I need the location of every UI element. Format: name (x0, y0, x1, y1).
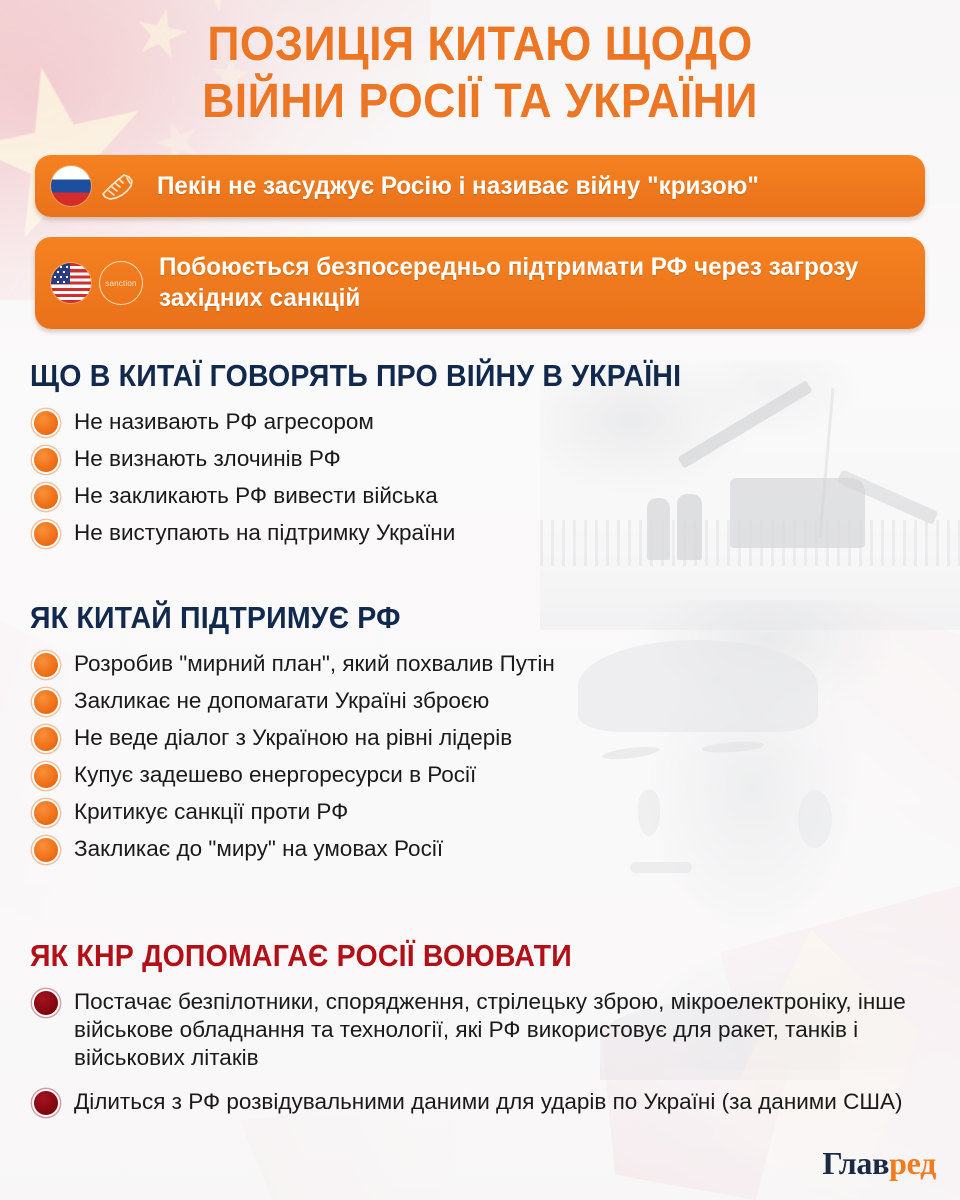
bullet-dot-icon (34, 727, 58, 751)
list-item-text: Не називають РФ агресором (74, 409, 374, 434)
sanction-badge-icon: sanction (99, 261, 143, 305)
list-item: Не веде діалог з Україною на рівні лідер… (30, 724, 555, 752)
infographic-poster: ПОЗИЦІЯ КИТАЮ ЩОДО ВІЙНИ РОСІЇ ТА УКРАЇН… (0, 0, 960, 1200)
list-item-text: Не закликають РФ вивести війська (74, 483, 438, 508)
logo-part-2: ред (889, 1145, 936, 1181)
handshake-icon (97, 166, 141, 206)
page-title: ПОЗИЦІЯ КИТАЮ ЩОДО ВІЙНИ РОСІЇ ТА УКРАЇН… (34, 16, 927, 130)
list-item-text: Ділиться з РФ розвідувальними даними для… (74, 1089, 902, 1114)
list-item-text: Купує задешево енергоресурси в Росії (74, 762, 476, 787)
list-item: Розробив "мирний план", який похвалив Пу… (30, 650, 555, 678)
russia-flag-icon (51, 166, 91, 206)
page-title-line-2: ВІЙНИ РОСІЇ ТА УКРАЇНИ (34, 73, 927, 130)
logo-part-1: Глав (822, 1145, 889, 1181)
list-item-text: Не визнають злочинів РФ (74, 446, 341, 471)
section-how-prc-helps-russia-fight: ЯК КНР ДОПОМАГАЄ РОСІЇ ВОЮВАТИ Постачає … (30, 938, 960, 1132)
list-item: Закликає до "миру" на умовах Росії (30, 835, 555, 863)
section-1-list: Не називають РФ агресором Не визнають зл… (30, 408, 738, 547)
bullet-dot-icon (34, 653, 58, 677)
list-item: Критикує санкції проти РФ (30, 798, 555, 826)
section-how-china-supports-rf: ЯК КИТАЙ ПІДТРИМУЄ РФ Розробив "мирний п… (30, 600, 555, 872)
banner-2-text: Побоюється безпосередньо підтримати РФ ч… (159, 252, 887, 314)
list-item-text: Критикує санкції проти РФ (74, 799, 348, 824)
banner-1-text: Пекін не засуджує Росію і називає війну … (157, 171, 759, 202)
usa-flag-icon (51, 263, 91, 303)
list-item: Закликає не допомагати Україні зброєю (30, 687, 555, 715)
bullet-dot-icon (34, 448, 58, 472)
list-item-text: Не виступають на підтримку України (74, 520, 455, 545)
usa-flag-stars (52, 264, 70, 284)
section-2-heading: ЯК КИТАЙ ПІДТРИМУЄ РФ (30, 600, 513, 636)
list-item: Ділиться з РФ розвідувальними даними для… (30, 1088, 960, 1116)
section-1-heading: ЩО В КИТАЇ ГОВОРЯТЬ ПРО ВІЙНУ В УКРАЇНІ (30, 358, 681, 394)
list-item: Не виступають на підтримку України (30, 519, 738, 547)
bullet-dot-icon (34, 991, 58, 1015)
page-title-line-1: ПОЗИЦІЯ КИТАЮ ЩОДО (34, 16, 927, 73)
bullet-dot-icon (34, 838, 58, 862)
section-what-china-says: ЩО В КИТАЇ ГОВОРЯТЬ ПРО ВІЙНУ В УКРАЇНІ … (30, 358, 738, 556)
banner-sanctions-fear: sanction Побоюється безпосередньо підтри… (35, 237, 925, 329)
banner-1-icon-group (51, 166, 141, 206)
sanction-badge-label: sanction (105, 279, 136, 288)
bullet-dot-icon (34, 522, 58, 546)
section-3-list: Постачає безпілотники, спорядження, стрі… (30, 988, 960, 1116)
list-item-text: Закликає не допомагати Україні зброєю (74, 688, 489, 713)
list-item: Не визнають злочинів РФ (30, 445, 738, 473)
section-2-list: Розробив "мирний план", який похвалив Пу… (30, 650, 555, 863)
bullet-dot-icon (34, 411, 58, 435)
bullet-dot-icon (34, 485, 58, 509)
bullet-dot-icon (34, 690, 58, 714)
list-item-text: Постачає безпілотники, спорядження, стрі… (74, 989, 906, 1070)
bullet-dot-icon (34, 801, 58, 825)
banner-2-icon-group: sanction (51, 261, 143, 305)
bullet-dot-icon (34, 764, 58, 788)
glavred-logo[interactable]: Главред (822, 1145, 936, 1182)
list-item-text: Розробив "мирний план", який похвалив Пу… (74, 651, 555, 676)
list-item: Не закликають РФ вивести війська (30, 482, 738, 510)
list-item: Постачає безпілотники, спорядження, стрі… (30, 988, 960, 1072)
list-item-text: Закликає до "миру" на умовах Росії (74, 836, 443, 861)
list-item: Не називають РФ агресором (30, 408, 738, 436)
list-item: Купує задешево енергоресурси в Росії (30, 761, 555, 789)
banner-beijing-statement: Пекін не засуджує Росію і називає війну … (35, 155, 925, 217)
list-item-text: Не веде діалог з Україною на рівні лідер… (74, 725, 512, 750)
section-3-heading: ЯК КНР ДОПОМАГАЄ РОСІЇ ВОЮВАТИ (30, 938, 886, 974)
bullet-dot-icon (34, 1091, 58, 1115)
